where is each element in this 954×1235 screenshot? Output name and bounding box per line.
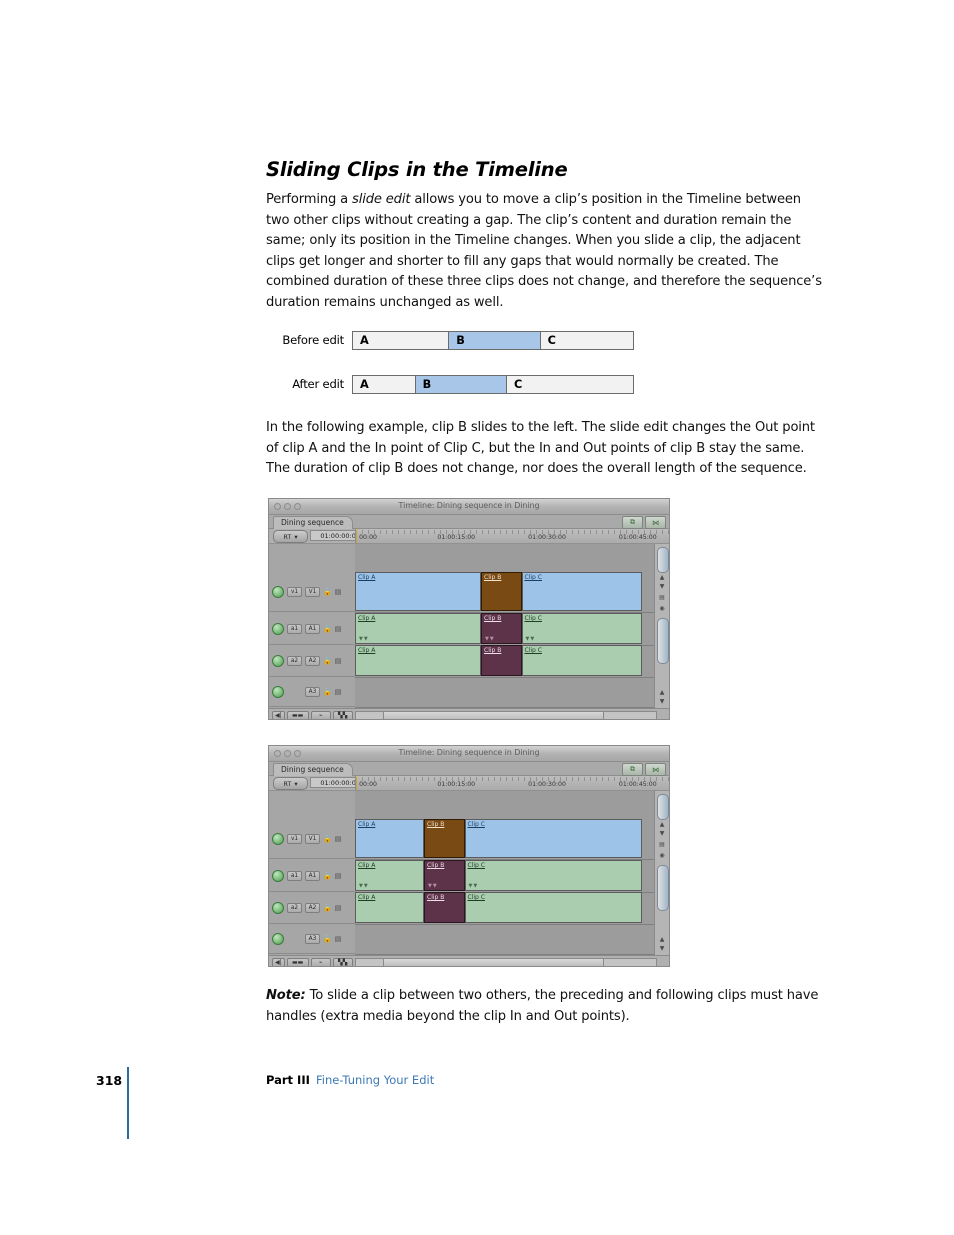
track-v1[interactable]: Clip A Clip B Clip C [355,819,655,860]
playhead[interactable] [356,529,357,543]
clip-label: Clip A [358,821,375,828]
lock-icon[interactable]: 🔒 [323,588,331,596]
window-titlebar: Timeline: Dining sequence in Dining [269,499,669,515]
track-layout-icon[interactable]: ▚▚ [333,958,353,968]
hscroll-thumb[interactable] [383,712,604,720]
timeline-ruler[interactable]: 00:00 01:00:15:00 01:00:30:00 01:00:45:0… [355,529,669,543]
lock-icon[interactable]: 🔒 [323,625,331,633]
audible-led-icon[interactable] [272,870,284,882]
ruler-mark-2: 01:00:30:00 [528,534,566,541]
source-track-a3[interactable] [287,687,302,697]
tab-dining-sequence[interactable]: Dining sequence [273,763,353,776]
chevron-down-icon: ▾ [294,780,297,788]
track-header-column: v1 V1 🔒 ▤ a1 A1 🔒 ▤ a2 A2 🔒 ▤ [269,791,356,967]
dest-track-A1[interactable]: A1 [305,624,320,634]
clip-label: Clip B [484,615,501,622]
audio-keyframe-marks: ▼▼ [428,883,438,889]
source-track-v1[interactable]: v1 [287,834,302,844]
window-title: Timeline: Dining sequence in Dining [269,748,669,757]
footer-divider [127,1067,129,1139]
document-page: Sliding Clips in the Timeline Performing… [0,0,954,1235]
clip-label: Clip B [484,647,501,654]
track-a3[interactable] [355,677,655,708]
track-a1[interactable]: Clip A▼▼ Clip B▼▼ Clip C▼▼ [355,613,655,646]
example-paragraph-wrap: In the following example, clip B slides … [266,418,826,480]
diagram-segment-b: B [448,332,540,349]
track-a3[interactable] [355,924,655,955]
timeline-view-buttons[interactable]: ⧉ ⋈ [622,516,666,529]
timeline-window-before[interactable]: Timeline: Dining sequence in Dining Dini… [268,498,670,720]
clip-a-a1[interactable]: Clip A▼▼ [355,613,481,644]
clip-label: Clip A [358,615,375,622]
diagram-segment-b2: B [415,376,507,393]
clip-label: Clip B [427,862,444,869]
vscroll-thumb-lower[interactable] [657,618,669,664]
vscroll-thumb-upper[interactable] [657,547,669,573]
snapping-icon[interactable]: ⋈ [645,763,666,776]
note-label: Note: [266,988,306,1003]
ruler-mark-0: 00:00 [359,781,377,788]
lock-icon[interactable]: 🔒 [323,688,331,696]
auto-select-icon[interactable]: ▤ [334,904,342,912]
audible-led-icon[interactable] [272,933,284,945]
auto-select-icon[interactable]: ▤ [334,835,342,843]
track-header-v1[interactable]: v1 V1 🔒 ▤ [269,572,355,612]
diagram-bar-after: A B C [352,375,634,394]
clip-label: Clip C [525,647,542,654]
note-text: To slide a clip between two others, the … [266,988,818,1024]
clip-label: Clip A [358,862,375,869]
linked-selection-icon[interactable]: ⧉ [622,763,643,776]
intro-text-b: allows you to move a clip’s position in … [266,192,822,310]
note-paragraph: Note: To slide a clip between two others… [266,986,826,1027]
audio-keyframe-marks: ▼▼ [359,883,369,889]
hscroll-thumb[interactable] [383,959,604,967]
source-track-a1[interactable]: a1 [287,624,302,634]
footer-part-label: Part III [266,1073,310,1087]
tracks-area[interactable]: Clip A Clip B Clip C Clip A▼▼ Clip B▼▼ C… [355,544,655,708]
clip-b-a2[interactable]: Clip B [481,645,522,676]
clip-c-v1[interactable]: Clip C [465,819,642,858]
clip-b-a2[interactable]: Clip B [424,892,465,923]
note-paragraph-wrap: Note: To slide a clip between two others… [266,986,826,1027]
scroll-up-arrow-icon[interactable]: ▲ [657,820,667,829]
ruler-mark-1: 01:00:15:00 [437,534,475,541]
auto-select-icon[interactable]: ▤ [334,588,342,596]
scroll-down-arrow-icon[interactable]: ▼ [657,829,667,838]
zoom-slider[interactable]: ▬▬ [287,711,309,721]
keyframe-icon[interactable]: ⌁ [311,958,331,968]
audio-meter-icon[interactable]: ◀| [272,958,285,968]
before-after-diagram: Before edit A B C After edit A B C [266,330,826,394]
rt-popup-button[interactable]: RT ▾ [273,777,308,790]
track-a1[interactable]: Clip A▼▼ Clip B▼▼ Clip C▼▼ [355,860,655,893]
scroll-up-arrow-icon[interactable]: ▲ [657,573,667,582]
snapping-icon[interactable]: ⋈ [645,516,666,529]
lock-icon[interactable]: 🔒 [323,935,331,943]
audible-led-icon[interactable] [272,686,284,698]
clip-c-a2[interactable]: Clip C [522,645,642,676]
timeline-toolbar: RT ▾ 01:00:00:00 00:00 01:00:15:00 01:00… [269,529,669,544]
track-height-icon[interactable]: ▤ [657,593,667,602]
auto-select-icon[interactable]: ▤ [334,657,342,665]
ruler-mark-3: 01:00:45:00 [619,781,657,788]
auto-select-icon[interactable]: ▤ [334,625,342,633]
ruler-mark-2: 01:00:30:00 [528,781,566,788]
track-layout-icon[interactable]: ▚▚ [333,711,353,721]
vscroll-thumb-lower[interactable] [657,865,669,911]
audible-led-icon[interactable] [272,902,284,914]
audio-keyframe-marks: ▼▼ [526,636,536,642]
timeline-toolbar: RT ▾ 01:00:00:00 00:00 01:00:15:00 01:00… [269,776,669,791]
horizontal-scrollbar[interactable] [355,958,657,967]
lock-icon[interactable]: 🔒 [323,835,331,843]
scroll-up-arrow-icon-2[interactable]: ▲ [657,935,667,944]
clip-c-a2[interactable]: Clip C [465,892,642,923]
intro-text-a: Performing a [266,192,352,207]
timeline-window-after[interactable]: Timeline: Dining sequence in Dining Dini… [268,745,670,967]
rt-label: RT [283,533,291,541]
timeline-ruler[interactable]: 00:00 01:00:15:00 01:00:30:00 01:00:45:0… [355,776,669,790]
audio-keyframe-marks: ▼▼ [469,883,479,889]
diagram-segment-a2: A [353,376,415,393]
dest-track-A3[interactable]: A3 [305,934,320,944]
source-track-a3[interactable] [287,934,302,944]
clip-label: Clip A [358,647,375,654]
dest-track-V1[interactable]: V1 [305,834,320,844]
auto-select-icon[interactable]: ▤ [334,688,342,696]
clip-overlays-icon[interactable]: ◉ [657,604,667,613]
track-v1[interactable]: Clip A Clip B Clip C [355,572,655,613]
rt-label: RT [283,780,291,788]
source-track-a2[interactable]: a2 [287,656,302,666]
scroll-down-arrow-icon-2[interactable]: ▼ [657,944,667,953]
timeline-body: v1 V1 🔒 ▤ a1 A1 🔒 ▤ a2 A2 🔒 ▤ [269,544,669,720]
page-number: 318 [96,1073,122,1088]
tracks-area[interactable]: Clip A Clip B Clip C Clip A▼▼ Clip B▼▼ C… [355,791,655,955]
lock-icon[interactable]: 🔒 [323,872,331,880]
intro-paragraph: Performing a slide edit allows you to mo… [266,190,826,314]
lock-icon[interactable]: 🔒 [323,904,331,912]
horizontal-scrollbar[interactable] [355,711,657,720]
dest-track-A2[interactable]: A2 [305,656,320,666]
clip-a-v1[interactable]: Clip A [355,572,481,611]
track-header-a3[interactable]: A3 🔒 ▤ [269,924,355,954]
auto-select-icon[interactable]: ▤ [334,872,342,880]
audio-keyframe-marks: ▼▼ [359,636,369,642]
window-titlebar: Timeline: Dining sequence in Dining [269,746,669,762]
track-height-icon[interactable]: ▤ [657,840,667,849]
audible-led-icon[interactable] [272,655,284,667]
clip-b-a1[interactable]: Clip B▼▼ [424,860,465,891]
visibility-led-icon[interactable] [272,586,284,598]
timeline-bottom-bar: ◀| ▬▬ ⌁ ▚▚ ▶ [269,955,669,967]
auto-select-icon[interactable]: ▤ [334,935,342,943]
diagram-label-after: After edit [266,377,352,391]
clip-label: Clip C [468,894,485,901]
window-title: Timeline: Dining sequence in Dining [269,501,669,510]
sequence-tabbar: Dining sequence ⧉ ⋈ [269,515,669,529]
diagram-segment-c: C [541,332,633,349]
ruler-mark-3: 01:00:45:00 [619,534,657,541]
clip-label: Clip A [358,574,375,581]
clip-label: Clip B [427,894,444,901]
audio-keyframe-marks: ▼▼ [485,636,495,642]
track-header-a3[interactable]: A3 🔒 ▤ [269,677,355,707]
source-track-v1[interactable]: v1 [287,587,302,597]
clip-b-v1[interactable]: Clip B [481,572,522,611]
clip-label: Clip C [525,615,542,622]
scroll-down-arrow-icon-2[interactable]: ▼ [657,697,667,706]
clip-b-a1[interactable]: Clip B▼▼ [481,613,522,644]
track-header-a1[interactable]: a1 A1 🔒 ▤ [269,613,355,645]
clip-b-v1[interactable]: Clip B [424,819,465,858]
source-track-a2[interactable]: a2 [287,903,302,913]
clip-a-a1[interactable]: Clip A▼▼ [355,860,424,891]
visibility-led-icon[interactable] [272,833,284,845]
clip-label: Clip C [468,821,485,828]
lock-icon[interactable]: 🔒 [323,657,331,665]
clip-label: Clip C [468,862,485,869]
timeline-view-buttons[interactable]: ⧉ ⋈ [622,763,666,776]
page-title: Sliding Clips in the Timeline [266,158,826,181]
clip-a-a2[interactable]: Clip A [355,645,481,676]
vscroll-thumb-upper[interactable] [657,794,669,820]
dest-track-V1[interactable]: V1 [305,587,320,597]
audible-led-icon[interactable] [272,623,284,635]
scroll-up-arrow-icon-2[interactable]: ▲ [657,688,667,697]
clip-label: Clip C [525,574,542,581]
track-header-a2[interactable]: a2 A2 🔒 ▤ [269,645,355,677]
playhead[interactable] [356,776,357,790]
page-footer: 318 Part III Fine-Tuning Your Edit [0,1065,954,1135]
diagram-segment-c2: C [507,376,633,393]
vertical-scrollbar[interactable]: ▲ ▼ ▤ ◉ ▲ ▼ [654,544,669,708]
tab-dining-sequence[interactable]: Dining sequence [273,516,353,529]
ruler-mark-1: 01:00:15:00 [437,781,475,788]
diagram-segment-a: A [353,332,448,349]
diagram-bar-before: A B C [352,331,634,350]
vertical-scrollbar[interactable]: ▲ ▼ ▤ ◉ ▲ ▼ [654,791,669,955]
diagram-row-after: After edit A B C [266,374,826,394]
keyframe-icon[interactable]: ⌁ [311,711,331,721]
track-header-column: v1 V1 🔒 ▤ a1 A1 🔒 ▤ a2 A2 🔒 ▤ [269,544,356,720]
rt-popup-button[interactable]: RT ▾ [273,530,308,543]
track-header-a2[interactable]: a2 A2 🔒 ▤ [269,892,355,924]
slide-edit-emphasis: slide edit [352,192,410,207]
audio-meter-icon[interactable]: ◀| [272,711,285,721]
diagram-label-before: Before edit [266,333,352,347]
dest-track-A1[interactable]: A1 [305,871,320,881]
linked-selection-icon[interactable]: ⧉ [622,516,643,529]
clip-label: Clip B [484,574,501,581]
clip-c-v1[interactable]: Clip C [522,572,642,611]
clip-a-v1[interactable]: Clip A [355,819,424,858]
diagram-row-before: Before edit A B C [266,330,826,350]
footer-chapter-link[interactable]: Fine-Tuning Your Edit [316,1073,434,1087]
clip-overlays-icon[interactable]: ◉ [657,851,667,860]
clip-a-a2[interactable]: Clip A [355,892,424,923]
example-paragraph: In the following example, clip B slides … [266,418,826,480]
ruler-mark-0: 00:00 [359,534,377,541]
sequence-tabbar: Dining sequence ⧉ ⋈ [269,762,669,776]
dest-track-A3[interactable]: A3 [305,687,320,697]
timeline-body: v1 V1 🔒 ▤ a1 A1 🔒 ▤ a2 A2 🔒 ▤ [269,791,669,967]
scroll-down-arrow-icon[interactable]: ▼ [657,582,667,591]
article-content: Sliding Clips in the Timeline Performing… [266,158,826,314]
clip-label: Clip A [358,894,375,901]
track-header-v1[interactable]: v1 V1 🔒 ▤ [269,819,355,859]
clip-label: Clip B [427,821,444,828]
track-a2[interactable]: Clip A Clip B Clip C [355,892,655,925]
clip-c-a1[interactable]: Clip C▼▼ [465,860,642,891]
chevron-down-icon: ▾ [294,533,297,541]
track-header-a1[interactable]: a1 A1 🔒 ▤ [269,860,355,892]
clip-c-a1[interactable]: Clip C▼▼ [522,613,642,644]
source-track-a1[interactable]: a1 [287,871,302,881]
dest-track-A2[interactable]: A2 [305,903,320,913]
zoom-slider[interactable]: ▬▬ [287,958,309,968]
track-a2[interactable]: Clip A Clip B Clip C [355,645,655,678]
timeline-bottom-bar: ◀| ▬▬ ⌁ ▚▚ ▶ [269,708,669,720]
